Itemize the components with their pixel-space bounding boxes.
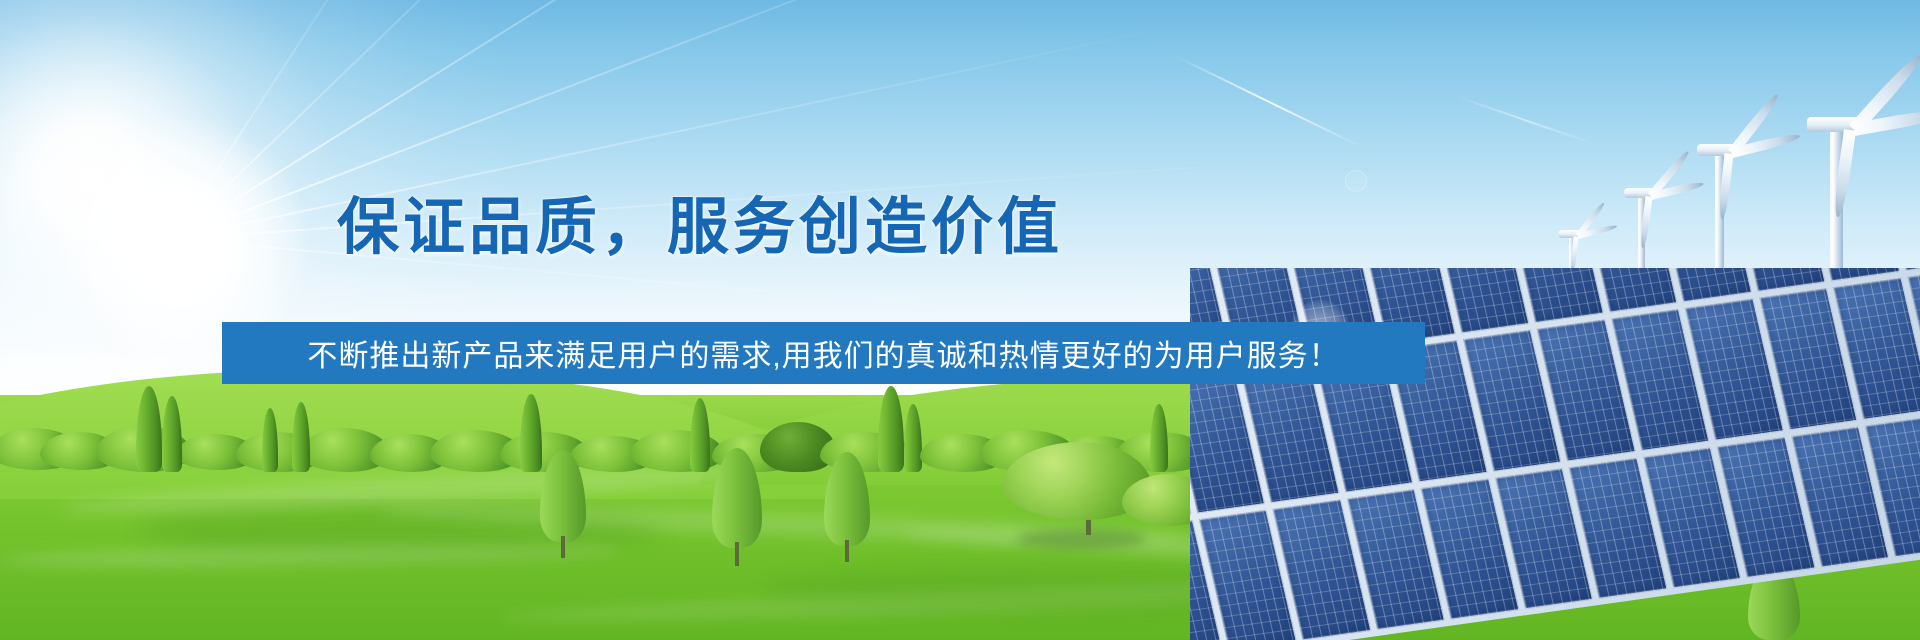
subtitle-text: 不断推出新产品来满足用户的需求,用我们的真诚和热情更好的为用户服务！ [307,331,1339,375]
hero-banner: 保证品质，服务创造价值 不断推出新产品来满足用户的需求,用我们的真诚和热情更好的… [0,0,1920,640]
page-title: 保证品质，服务创造价值 [0,176,1400,266]
subtitle-banner: 不断推出新产品来满足用户的需求,用我们的真诚和热情更好的为用户服务！ [222,322,1425,384]
